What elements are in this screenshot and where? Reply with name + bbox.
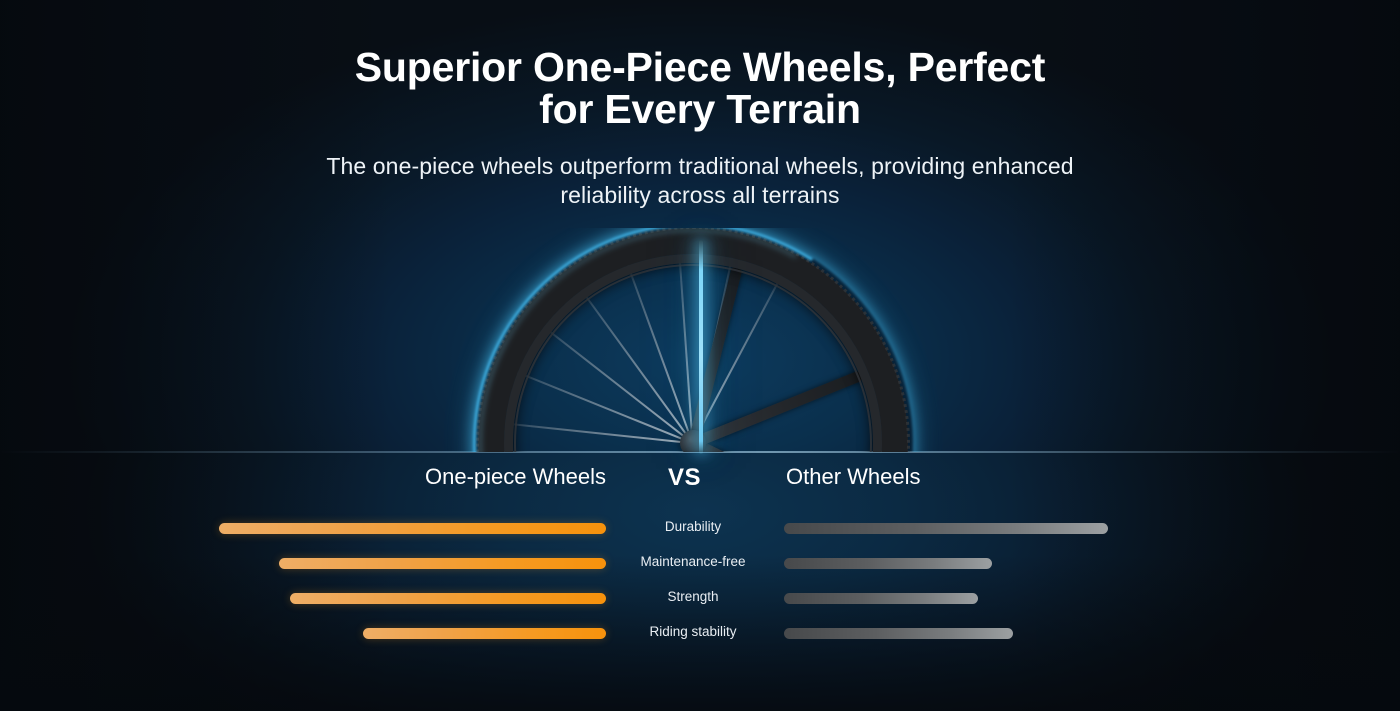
comparison-row: Strength <box>0 582 1400 617</box>
column-title-other: Other Wheels <box>786 464 921 490</box>
comparison-headers: One-piece Wheels VS Other Wheels <box>0 452 1400 502</box>
bar-one-piece <box>290 593 606 604</box>
bar-track-other <box>784 523 1108 534</box>
attribute-label: Riding stability <box>600 624 786 639</box>
split-divider-beam <box>699 240 703 454</box>
bar-track-other <box>784 558 992 569</box>
comparison-row: Riding stability <box>0 617 1400 652</box>
bar-track-one-piece <box>363 628 606 639</box>
comparison-row: Durability <box>0 512 1400 547</box>
subtitle-line-2: reliability across all terrains <box>560 182 839 208</box>
bar-other <box>784 558 992 569</box>
comparison-row: Maintenance-free <box>0 547 1400 582</box>
headline-line-1: Superior One-Piece Wheels, Perfect <box>355 44 1045 90</box>
column-title-one-piece: One-piece Wheels <box>425 464 606 490</box>
bar-other <box>784 628 1013 639</box>
bar-track-one-piece <box>219 523 606 534</box>
bar-one-piece <box>363 628 606 639</box>
subtitle-line-1: The one-piece wheels outperform traditio… <box>326 153 1073 179</box>
bar-track-one-piece <box>279 558 606 569</box>
bar-other <box>784 523 1108 534</box>
bar-one-piece <box>219 523 606 534</box>
comparison-section: One-piece Wheels VS Other Wheels Durabil… <box>0 452 1400 711</box>
attribute-label: Durability <box>600 519 786 534</box>
bar-one-piece <box>279 558 606 569</box>
bar-track-one-piece <box>290 593 606 604</box>
vs-label: VS <box>668 464 701 492</box>
comparison-rows: DurabilityMaintenance-freeStrengthRiding… <box>0 512 1400 652</box>
header-block: Superior One-Piece Wheels, Perfect for E… <box>0 0 1400 209</box>
page-title: Superior One-Piece Wheels, Perfect for E… <box>0 46 1400 130</box>
promo-banner: Superior One-Piece Wheels, Perfect for E… <box>0 0 1400 711</box>
bar-other <box>784 593 978 604</box>
headline-line-2: for Every Terrain <box>539 86 861 132</box>
bar-track-other <box>784 628 1013 639</box>
attribute-label: Maintenance-free <box>600 554 786 569</box>
bar-track-other <box>784 593 978 604</box>
attribute-label: Strength <box>600 589 786 604</box>
page-subtitle: The one-piece wheels outperform traditio… <box>0 152 1400 209</box>
